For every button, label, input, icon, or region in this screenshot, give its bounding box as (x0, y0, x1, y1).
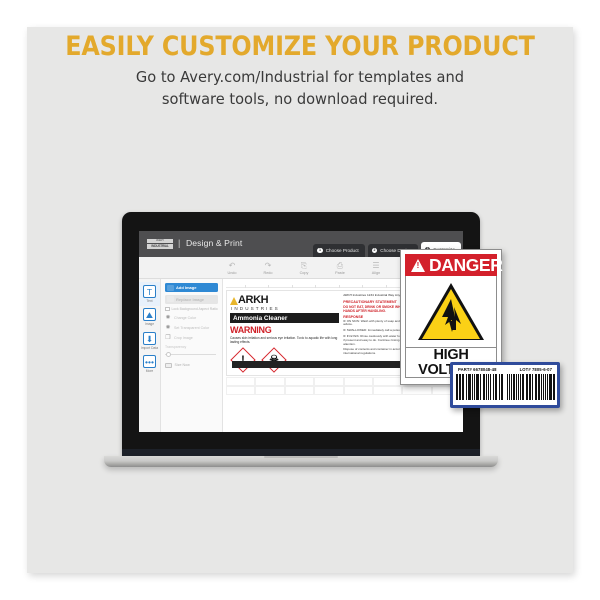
copy-icon: ⎘ (293, 261, 315, 271)
crop-image-icon: ❐ (165, 335, 171, 341)
rail-item-text[interactable]: T Text (139, 282, 160, 306)
toolbar-label: Copy (293, 271, 315, 275)
lightning-bolt-icon (441, 299, 463, 333)
chevron-logo-icon (230, 297, 238, 305)
product-name: Ammonia Cleaner (230, 313, 339, 323)
brand-line-2: INDUSTRIAL (147, 244, 173, 249)
change-color-icon: ✸ (165, 315, 171, 321)
toolbar-copy[interactable]: ⎘ Copy (293, 261, 315, 275)
more-tools-icon: ••• (143, 355, 156, 368)
toggle-label: Size Now (175, 363, 190, 367)
barcode-bars-row (456, 374, 554, 400)
danger-signal-word: DANGER (429, 256, 502, 274)
transparent-color-row[interactable]: ✸ Set Transparent Color (165, 325, 218, 331)
laptop-mockup: AVERY INDUSTRIAL | Design & Print 1 Choo… (118, 212, 484, 472)
subtitle-line-2: software tools, no download required. (15, 88, 585, 110)
rail-label: More (139, 369, 160, 373)
pictogram-glyph: ! (230, 347, 256, 373)
add-image-label: Add Image (176, 285, 196, 290)
brand-separator: | (178, 238, 180, 248)
danger-banner: DANGER (405, 254, 497, 276)
tab-number: 2 (372, 248, 378, 254)
pictogram-row: ! ☠ (230, 347, 339, 373)
paste-icon: ⎙ (329, 261, 351, 271)
tab-label: Choose Product (326, 248, 359, 253)
toolbar-label: Undo (221, 271, 243, 275)
row-label: Crop Image (174, 336, 193, 340)
image-tool-icon: ⛰ (143, 308, 156, 321)
company-logo: ARKH (230, 295, 339, 305)
barcode-icon (507, 374, 554, 400)
transparency-slider[interactable] (165, 351, 218, 357)
slider-knob[interactable] (166, 352, 171, 357)
add-image-button[interactable]: Add Image (165, 283, 218, 292)
row-label: Change Color (174, 316, 196, 320)
danger-message-line-1: HIGH (433, 348, 468, 363)
laptop-base (104, 456, 498, 467)
replace-image-button[interactable]: Replace Image (165, 295, 218, 304)
danger-pictogram-area (405, 276, 497, 348)
slider-track (165, 354, 216, 355)
signal-word: WARNING (230, 326, 339, 335)
checkbox-icon (165, 307, 170, 312)
toolbar-label: Align (365, 271, 387, 275)
redo-icon: ↷ (257, 261, 279, 271)
crop-image-row[interactable]: ❐ Crop Image (165, 335, 218, 341)
environment-pictogram: ☠ (261, 347, 287, 373)
toolbar-paste[interactable]: ⎙ Paste (329, 261, 351, 275)
toggle-switch-icon (165, 363, 172, 368)
label-footer-bar (232, 361, 418, 368)
page-subtitle: Go to Avery.com/Industrial for templates… (15, 66, 585, 110)
part-number-text: PART# 6678048-48 (458, 367, 497, 372)
page-title: EASILY CUSTOMIZE YOUR PRODUCT (30, 31, 570, 62)
rail-label: Text (139, 299, 160, 303)
barcode-icon (456, 374, 503, 400)
rail-label: Import Data (139, 346, 160, 350)
text-tool-icon: T (143, 285, 156, 298)
company-name: ARKH (238, 295, 268, 305)
rail-label: Image (139, 322, 160, 326)
checkbox-label: Lock Background Aspect Ratio (172, 307, 218, 311)
import-data-icon: ⬇ (143, 332, 156, 345)
tool-rail: T Text ⛰ Image ⬇ Import Data ••• (139, 279, 161, 432)
lock-aspect-checkbox[interactable]: Lock Background Aspect Ratio (165, 307, 218, 312)
app-title: Design & Print (186, 238, 242, 248)
toolbar-undo[interactable]: ↶ Undo (221, 261, 243, 275)
rail-item-image[interactable]: ⛰ Image (139, 306, 160, 330)
transparent-color-icon: ✸ (165, 325, 171, 331)
exclamation-pictogram: ! (230, 347, 256, 373)
change-color-row[interactable]: ✸ Change Color (165, 315, 218, 321)
replace-icon (167, 296, 174, 302)
barcode-label-inner: PART# 6678048-48 LOT# 7805-6-07 (453, 365, 557, 405)
pictogram-glyph: ☠ (261, 347, 287, 373)
warning-triangle-icon (411, 259, 425, 272)
undo-icon: ↶ (221, 261, 243, 271)
avery-industrial-logo: AVERY INDUSTRIAL (147, 236, 173, 251)
align-icon: ☰ (365, 261, 387, 271)
replace-image-label: Replace Image (176, 297, 204, 302)
brand-line-1: AVERY (147, 239, 173, 243)
rail-item-more[interactable]: ••• More (139, 353, 160, 377)
image-thumb-icon (167, 285, 174, 291)
rail-item-import-data[interactable]: ⬇ Import Data (139, 329, 160, 353)
hazard-statement: Causes skin irritation and serious eye i… (230, 336, 339, 344)
tab-number: 1 (317, 248, 323, 254)
toolbar-align[interactable]: ☰ Align (365, 261, 387, 275)
size-now-toggle[interactable]: Size Now (165, 363, 218, 368)
barcode-label: PART# 6678048-48 LOT# 7805-6-07 (450, 362, 560, 408)
toolbar-label: Paste (329, 271, 351, 275)
sheet-grid-row (226, 386, 461, 395)
lot-number-text: LOT# 7805-6-07 (520, 367, 552, 372)
toolbar-label: Redo (257, 271, 279, 275)
electric-shock-icon (418, 283, 484, 340)
transparency-label: Transparency (165, 345, 218, 349)
promo-image: EASILY CUSTOMIZE YOUR PRODUCT Go to Aver… (0, 0, 600, 600)
toolbar-redo[interactable]: ↷ Redo (257, 261, 279, 275)
tab-choose-product[interactable]: 1 Choose Product (313, 244, 365, 257)
barcode-text-row: PART# 6678048-48 LOT# 7805-6-07 (456, 367, 554, 372)
company-subtitle: INDUSTRIES (231, 306, 339, 311)
subtitle-line-1: Go to Avery.com/Industrial for templates… (15, 66, 585, 88)
image-properties-panel: Add Image Replace Image Lock Background … (161, 279, 223, 432)
row-label: Set Transparent Color (174, 326, 209, 330)
